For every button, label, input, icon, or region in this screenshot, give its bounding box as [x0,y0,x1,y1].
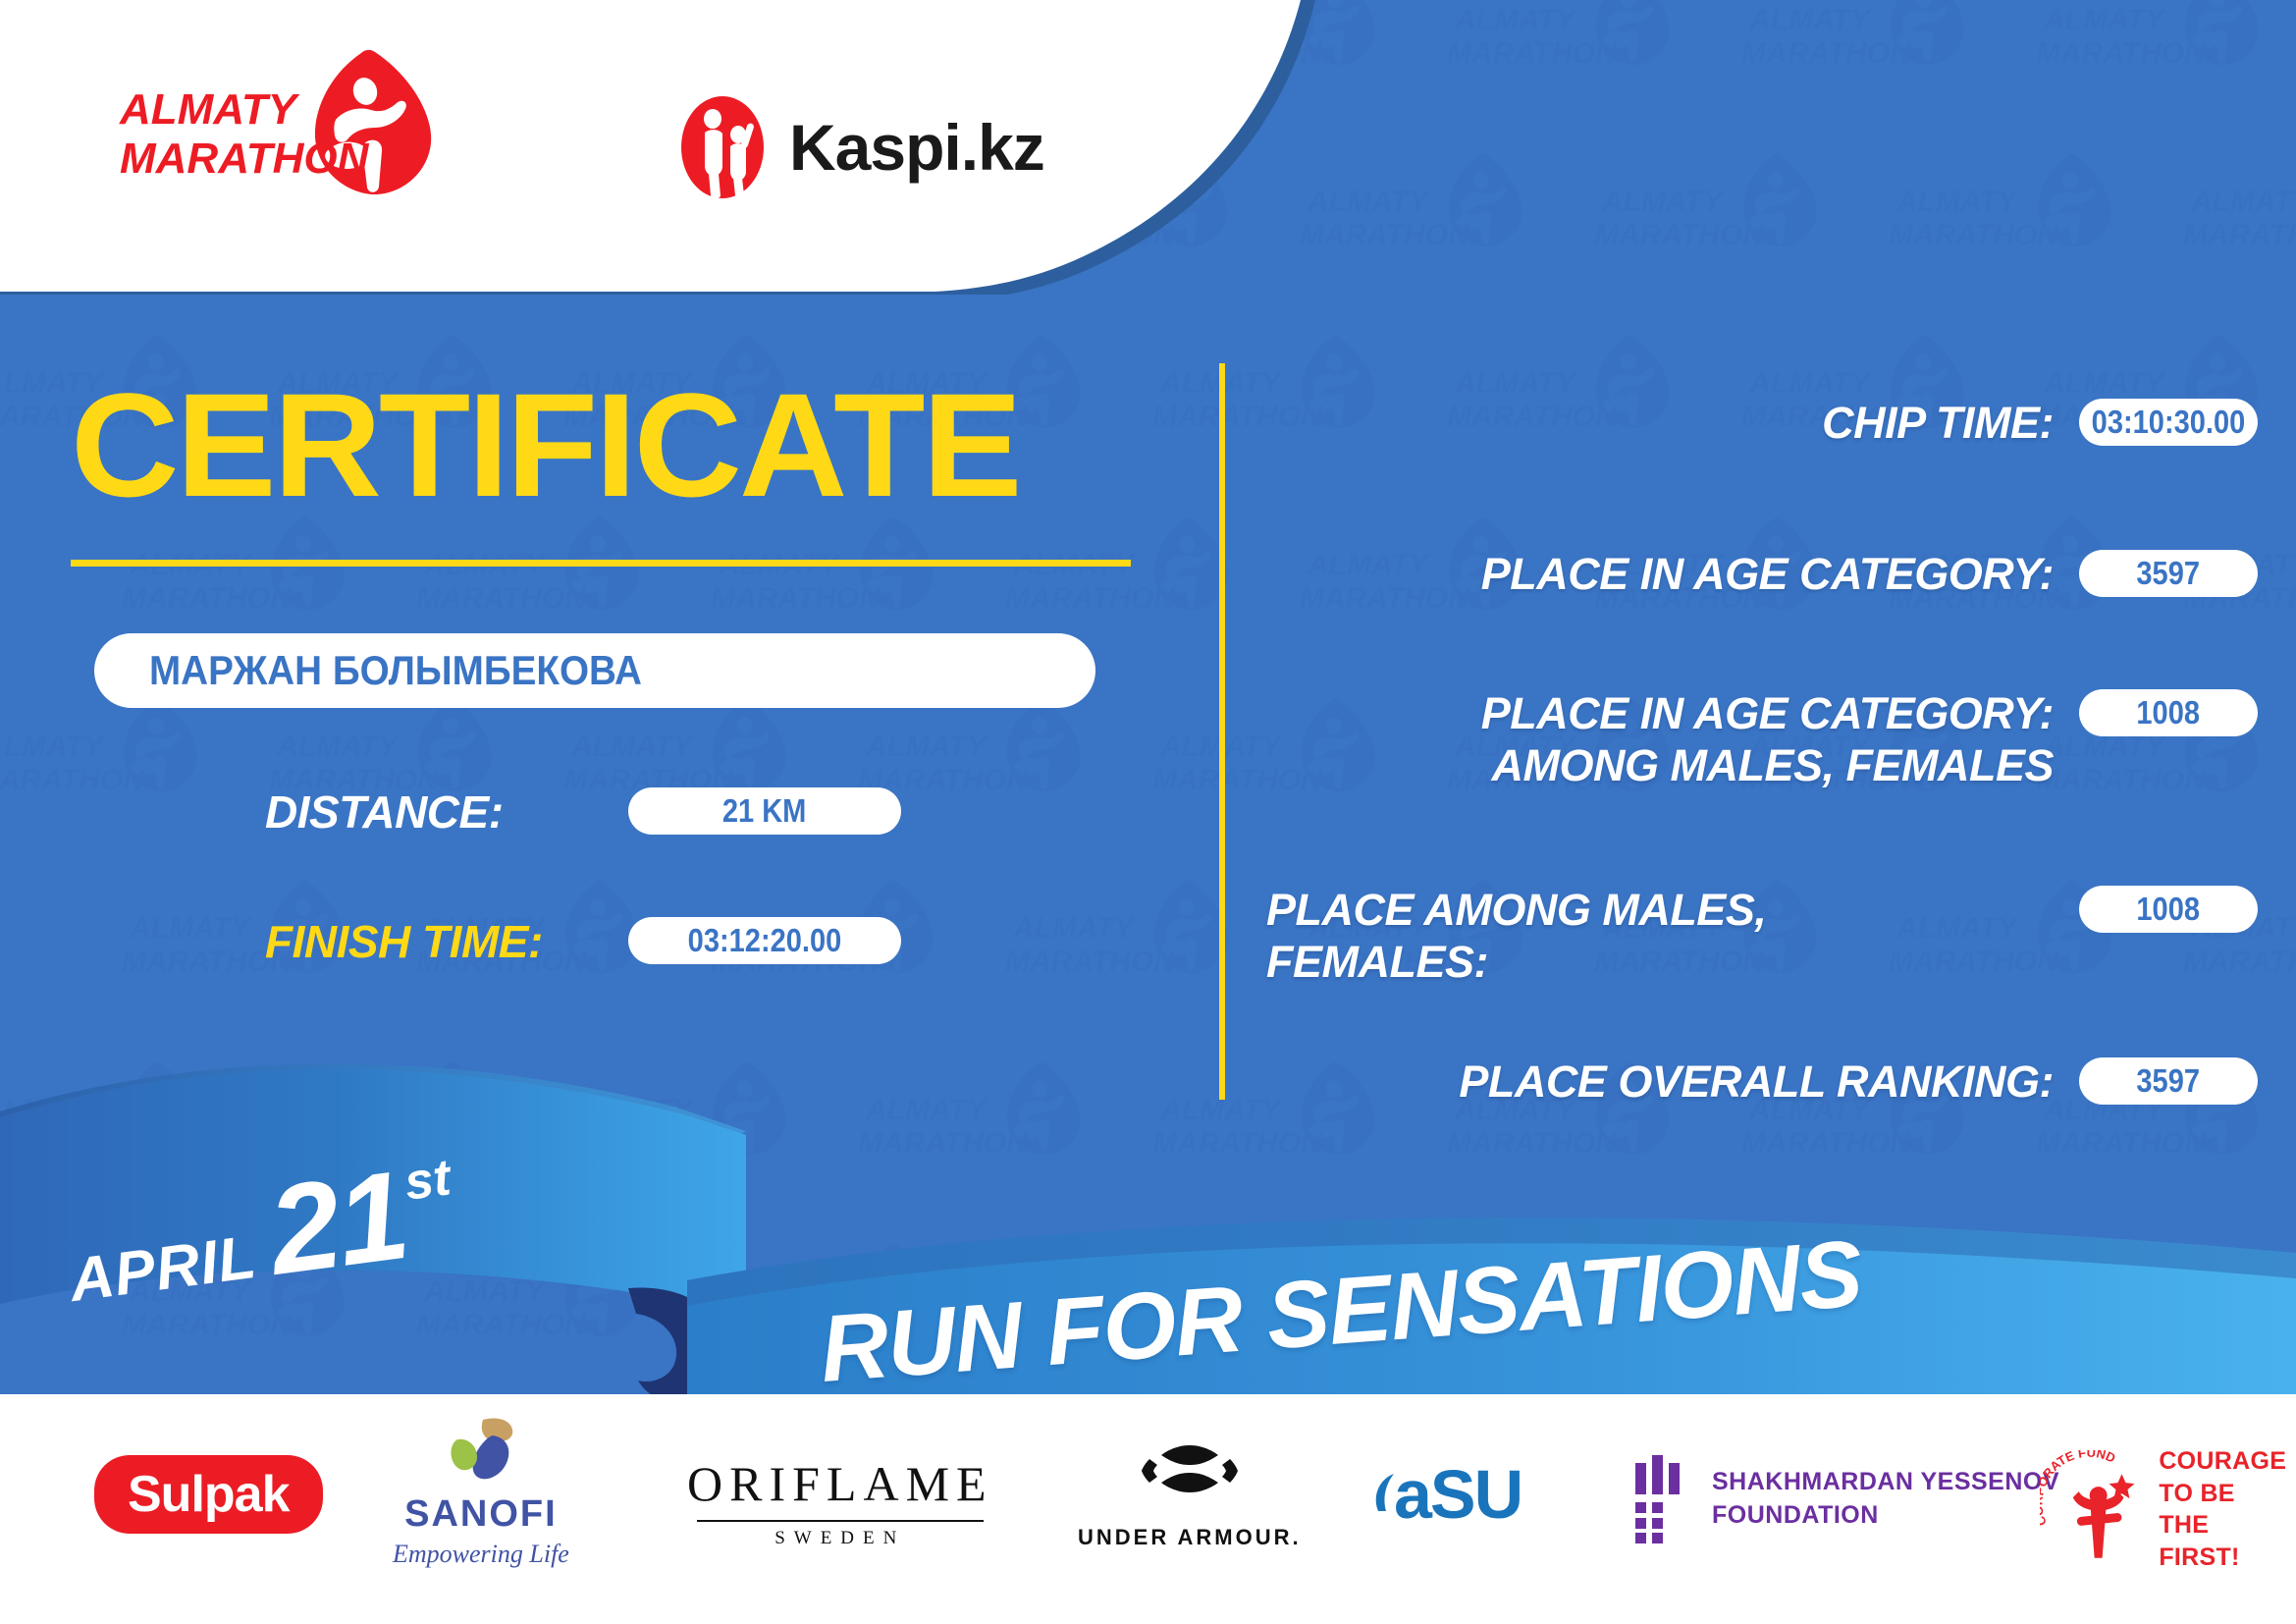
svg-text:ALMATY: ALMATY [1748,367,1873,400]
event-month: APRIL [66,1222,261,1316]
result-value-pill: 03:10:30.00 [2079,399,2258,446]
finish-time-value-pill: 03:12:20.00 [628,917,901,964]
yessenov-mark-icon [1629,1455,1690,1543]
svg-text:MARATHON: MARATHON [1005,582,1176,615]
svg-text:ALMATY: ALMATY [1454,367,1578,400]
sponsor-oriflame: ORIFLAME SWEDEN [687,1455,993,1549]
result-row-gender-place: PLACE AMONG MALES,FEMALES: 1008 [1266,884,2258,988]
distance-value-pill: 21 KM [628,787,901,835]
result-label: PLACE AMONG MALES,FEMALES: [1266,884,2079,988]
svg-text:ALMATY: ALMATY [0,731,106,763]
result-row-age-category-gender: PLACE IN AGE CATEGORY:AMONG MALES, FEMAL… [1266,687,2258,791]
result-row-chip-time: CHIP TIME: 03:10:30.00 [1266,397,2258,449]
certificate-page: ALMATYMARATHONALMATYMARATHONALMATYMARATH… [0,0,2296,1624]
event-day: 21 [261,1143,414,1304]
distance-label: DISTANCE: [265,785,504,839]
participant-name-field: МАРЖАН БОЛЫМБЕКОВА [94,633,1095,708]
result-value-pill: 1008 [2079,689,2258,736]
svg-text:ALMATY: ALMATY [865,731,989,763]
courage-fund-slogan: COURAGETO BETHE FIRST! [2159,1445,2296,1573]
oriflame-divider [697,1520,984,1522]
result-value: 3597 [2137,555,2201,592]
sanofi-mark-icon [436,1416,526,1485]
sponsor-asu: aSU [1372,1455,1522,1534]
svg-text:MARATHON: MARATHON [416,582,587,615]
result-value: 1008 [2137,694,2201,731]
event-day-suffix: st [401,1148,454,1213]
sanofi-tagline: Empowering Life [393,1540,569,1569]
result-value-pill: 1008 [2079,886,2258,933]
svg-text:MARATHON: MARATHON [122,582,293,615]
svg-text:MARATHON: MARATHON [1005,946,1176,978]
finish-time-row: FINISH TIME: [265,915,543,968]
sponsor-courage-fund: CORPORATE FUND COURAGETO BETHE FIRST! [2040,1445,2296,1573]
result-value: 03:10:30.00 [2092,404,2246,441]
under-armour-mark-icon [1122,1441,1257,1514]
result-label: CHIP TIME: [1266,397,2079,449]
oriflame-logo-text: ORIFLAME [687,1455,993,1512]
participant-name-value: МАРЖАН БОЛЫМБЕКОВА [149,647,642,694]
svg-text:MARATHON: MARATHON [711,582,881,615]
sponsor-bar: Sulpak SANOFI Empowering Life ORIFLAME S… [0,1394,2296,1624]
finish-time-label: FINISH TIME: [265,915,543,968]
finish-time-value: 03:12:20.00 [688,922,842,959]
header-logos: ALMATY MARATHON Kaspi.kz [0,0,1178,285]
almaty-marathon-logo: ALMATY MARATHON [118,47,442,204]
distance-value: 21 KM [722,792,807,830]
sanofi-logo-text: SANOFI [393,1493,569,1536]
title-divider [71,560,1131,567]
svg-text:ALMATY: ALMATY [129,912,253,945]
under-armour-logo-text: UNDER ARMOUR. [1078,1525,1302,1550]
sponsor-under-armour: UNDER ARMOUR. [1078,1441,1302,1550]
result-row-age-category: PLACE IN AGE CATEGORY: 3597 [1266,548,2258,600]
svg-text:ALMATY: ALMATY [570,731,695,763]
sulpak-logo-text: Sulpak [94,1455,323,1534]
kaspi-mark-icon [677,93,768,201]
oriflame-subtitle: SWEDEN [687,1528,993,1549]
result-value: 1008 [2137,891,2201,928]
sponsor-sulpak: Sulpak [94,1455,323,1534]
svg-text:ALMATY: ALMATY [276,731,400,763]
almaty-logo-line2: MARATHON [120,135,370,183]
yessenov-logo-text: SHAKHMARDAN YESSENOVFOUNDATION [1712,1466,2059,1533]
svg-text:MARATHON: MARATHON [0,764,145,796]
sponsor-yessenov-foundation: SHAKHMARDAN YESSENOVFOUNDATION [1629,1455,2059,1543]
result-label: PLACE IN AGE CATEGORY: [1266,548,2079,600]
page-title: CERTIFICATE [71,371,1019,518]
kaspi-logo: Kaspi.kz [677,93,1044,201]
asu-logo-text: aSU [1394,1455,1522,1534]
distance-row: DISTANCE: [265,785,504,839]
column-divider [1219,363,1225,1100]
svg-text:ALMATY: ALMATY [2043,367,2167,400]
courage-fund-mark-icon: CORPORATE FUND [2040,1450,2149,1568]
result-value-pill: 3597 [2079,550,2258,597]
svg-text:ALMATY: ALMATY [1012,912,1137,945]
result-label: PLACE IN AGE CATEGORY:AMONG MALES, FEMAL… [1266,687,2079,791]
sponsor-sanofi: SANOFI Empowering Life [393,1416,569,1569]
kaspi-logo-text: Kaspi.kz [789,110,1044,185]
almaty-logo-line1: ALMATY [119,85,300,134]
